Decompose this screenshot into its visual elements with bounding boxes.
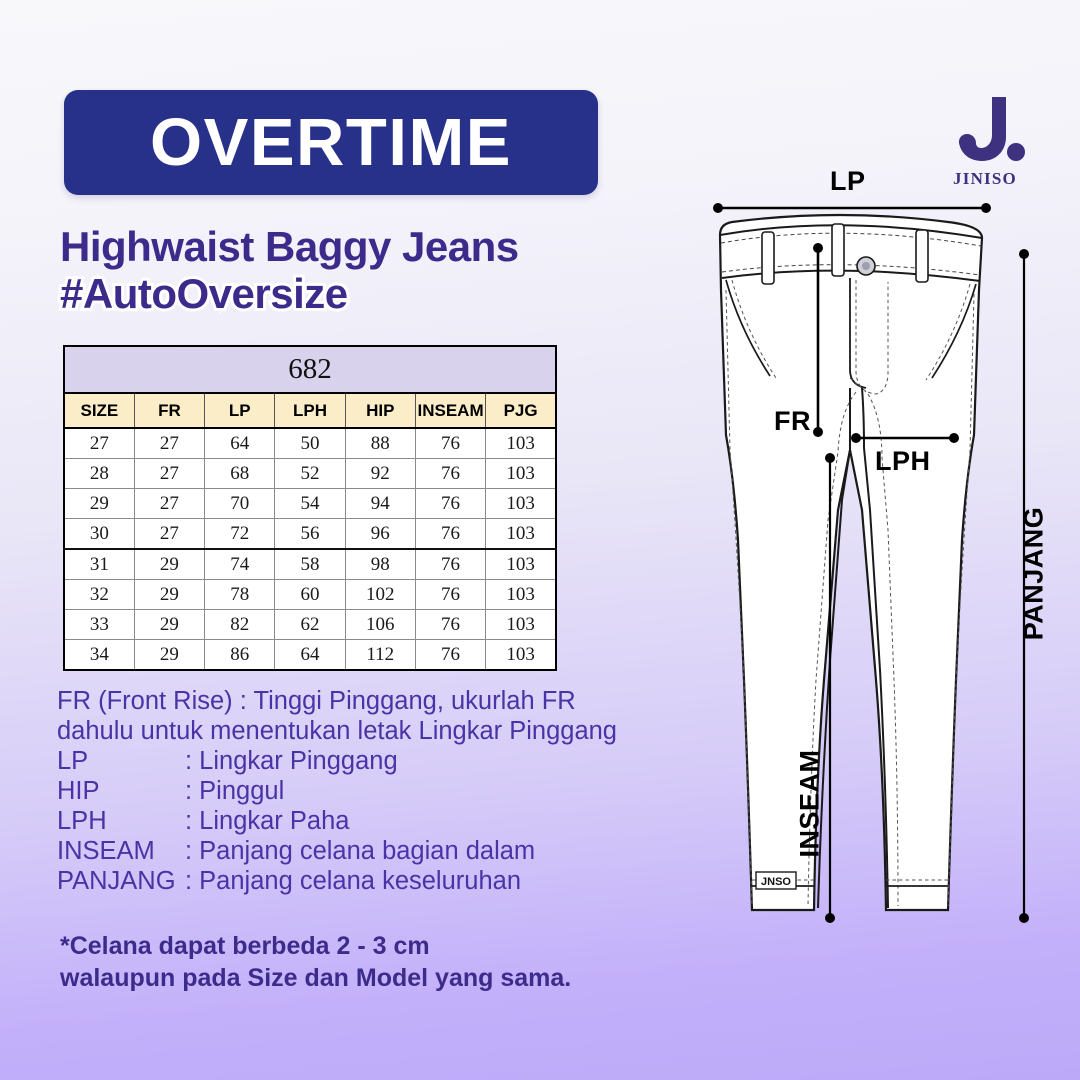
label-fr: FR: [774, 408, 811, 435]
table-row: 3229786010276103: [64, 580, 556, 610]
table-cell: 27: [134, 519, 204, 550]
legend-item: LPH: Lingkar Paha: [57, 806, 697, 836]
table-cell: 58: [275, 549, 345, 580]
table-cell: 52: [275, 459, 345, 489]
table-cell: 64: [205, 428, 275, 459]
table-cell: 76: [415, 610, 485, 640]
table-cell: 76: [415, 519, 485, 550]
legend-item-value: : Pinggul: [185, 776, 284, 806]
legend-item: PANJANG: Panjang celana keseluruhan: [57, 866, 697, 896]
legend-item: HIP: Pinggul: [57, 776, 697, 806]
legend-item-key: LPH: [57, 806, 185, 836]
table-cell: 27: [134, 428, 204, 459]
infographic-canvas: OVERTIME Highwaist Baggy Jeans #AutoOver…: [0, 0, 1080, 1080]
table-row: 282768529276103: [64, 459, 556, 489]
label-inseam: INSEAM: [797, 744, 824, 864]
table-cell: 28: [64, 459, 134, 489]
table-cell: 88: [345, 428, 415, 459]
table-cell: 29: [134, 549, 204, 580]
table-header-row: SIZEFRLPLPHHIPINSEAMPJG: [64, 393, 556, 428]
size-chart-table: 682 SIZEFRLPLPHHIPINSEAMPJG 272764508876…: [63, 345, 557, 671]
table-col-header-pjg: PJG: [486, 393, 556, 428]
label-lph: LPH: [875, 448, 931, 475]
table-cell: 103: [486, 640, 556, 671]
table-cell: 29: [134, 640, 204, 671]
disclaimer-note: *Celana dapat berbeda 2 - 3 cm walaupun …: [60, 930, 680, 994]
table-cell: 96: [345, 519, 415, 550]
table-col-header-size: SIZE: [64, 393, 134, 428]
table-cell: 29: [134, 610, 204, 640]
table-cell: 70: [205, 489, 275, 519]
label-panjang: PANJANG: [1021, 504, 1048, 644]
brand-logo: JINISO: [930, 95, 1040, 189]
table-cell: 62: [275, 610, 345, 640]
table-cell: 54: [275, 489, 345, 519]
table-col-header-fr: FR: [134, 393, 204, 428]
table-cell: 29: [134, 580, 204, 610]
legend-fr-line1: FR (Front Rise) : Tinggi Pinggang, ukurl…: [57, 686, 697, 716]
product-hashtag: #AutoOversize: [60, 272, 680, 316]
note-line-2: walaupun pada Size dan Model yang sama.: [60, 962, 680, 994]
label-lp: LP: [830, 168, 866, 195]
table-cell: 82: [205, 610, 275, 640]
legend-item-value: : Panjang celana bagian dalam: [185, 836, 535, 866]
table-cell: 103: [486, 549, 556, 580]
legend-item-key: LP: [57, 746, 185, 776]
table-cell: 103: [486, 428, 556, 459]
table-col-header-lp: LP: [205, 393, 275, 428]
table-cell: 112: [345, 640, 415, 671]
table-cell: 106: [345, 610, 415, 640]
table-cell: 27: [64, 428, 134, 459]
table-cell: 30: [64, 519, 134, 550]
legend-items: LP: Lingkar PinggangHIP: PinggulLPH: Lin…: [57, 746, 697, 896]
overtime-badge: OVERTIME: [64, 90, 598, 195]
table-cell: 29: [64, 489, 134, 519]
table-cell: 27: [134, 459, 204, 489]
table-cell: 94: [345, 489, 415, 519]
table-cell: 76: [415, 549, 485, 580]
table-cell: 103: [486, 489, 556, 519]
table-cell: 32: [64, 580, 134, 610]
legend-item-value: : Lingkar Pinggang: [185, 746, 398, 776]
table-col-header-hip: HIP: [345, 393, 415, 428]
table-row: 312974589876103: [64, 549, 556, 580]
table-row: 3329826210676103: [64, 610, 556, 640]
table-cell: 76: [415, 489, 485, 519]
table-cell: 64: [275, 640, 345, 671]
table-cell: 78: [205, 580, 275, 610]
jeans-outline: JNSO: [720, 215, 982, 910]
svg-text:JNSO: JNSO: [761, 876, 791, 888]
table-title: 682: [64, 346, 556, 393]
table-cell: 76: [415, 580, 485, 610]
hem-tag: JNSO: [756, 872, 796, 889]
table-cell: 50: [275, 428, 345, 459]
legend-item-key: HIP: [57, 776, 185, 806]
table-row: 302772569676103: [64, 519, 556, 550]
table-col-header-inseam: INSEAM: [415, 393, 485, 428]
table-cell: 86: [205, 640, 275, 671]
table-cell: 103: [486, 580, 556, 610]
table-cell: 27: [134, 489, 204, 519]
jeans-diagram: JNSO: [690, 180, 1080, 970]
table-cell: 76: [415, 640, 485, 671]
legend-item-key: INSEAM: [57, 836, 185, 866]
table-cell: 56: [275, 519, 345, 550]
table-cell: 103: [486, 459, 556, 489]
legend-item-value: : Panjang celana keseluruhan: [185, 866, 521, 896]
table-cell: 60: [275, 580, 345, 610]
table-cell: 76: [415, 459, 485, 489]
table-cell: 76: [415, 428, 485, 459]
table-cell: 33: [64, 610, 134, 640]
table-cell: 98: [345, 549, 415, 580]
legend-item: INSEAM: Panjang celana bagian dalam: [57, 836, 697, 866]
note-line-1: *Celana dapat berbeda 2 - 3 cm: [60, 930, 680, 962]
table-cell: 103: [486, 519, 556, 550]
legend-block: FR (Front Rise) : Tinggi Pinggang, ukurl…: [57, 686, 697, 896]
table-cell: 74: [205, 549, 275, 580]
table-cell: 92: [345, 459, 415, 489]
product-subtitle: Highwaist Baggy Jeans: [60, 225, 680, 269]
table-row: 292770549476103: [64, 489, 556, 519]
table-cell: 103: [486, 610, 556, 640]
table-row: 3429866411276103: [64, 640, 556, 671]
legend-item: LP: Lingkar Pinggang: [57, 746, 697, 776]
legend-item-value: : Lingkar Paha: [185, 806, 349, 836]
table-body: 2727645088761032827685292761032927705494…: [64, 428, 556, 670]
table-cell: 34: [64, 640, 134, 671]
legend-item-key: PANJANG: [57, 866, 185, 896]
legend-fr-line2: dahulu untuk menentukan letak Lingkar Pi…: [57, 716, 697, 746]
j-dot-icon: [930, 95, 1040, 167]
table-col-header-lph: LPH: [275, 393, 345, 428]
badge-label: OVERTIME: [150, 109, 512, 176]
table-cell: 102: [345, 580, 415, 610]
table-cell: 72: [205, 519, 275, 550]
table-cell: 68: [205, 459, 275, 489]
table-row: 272764508876103: [64, 428, 556, 459]
table-cell: 31: [64, 549, 134, 580]
